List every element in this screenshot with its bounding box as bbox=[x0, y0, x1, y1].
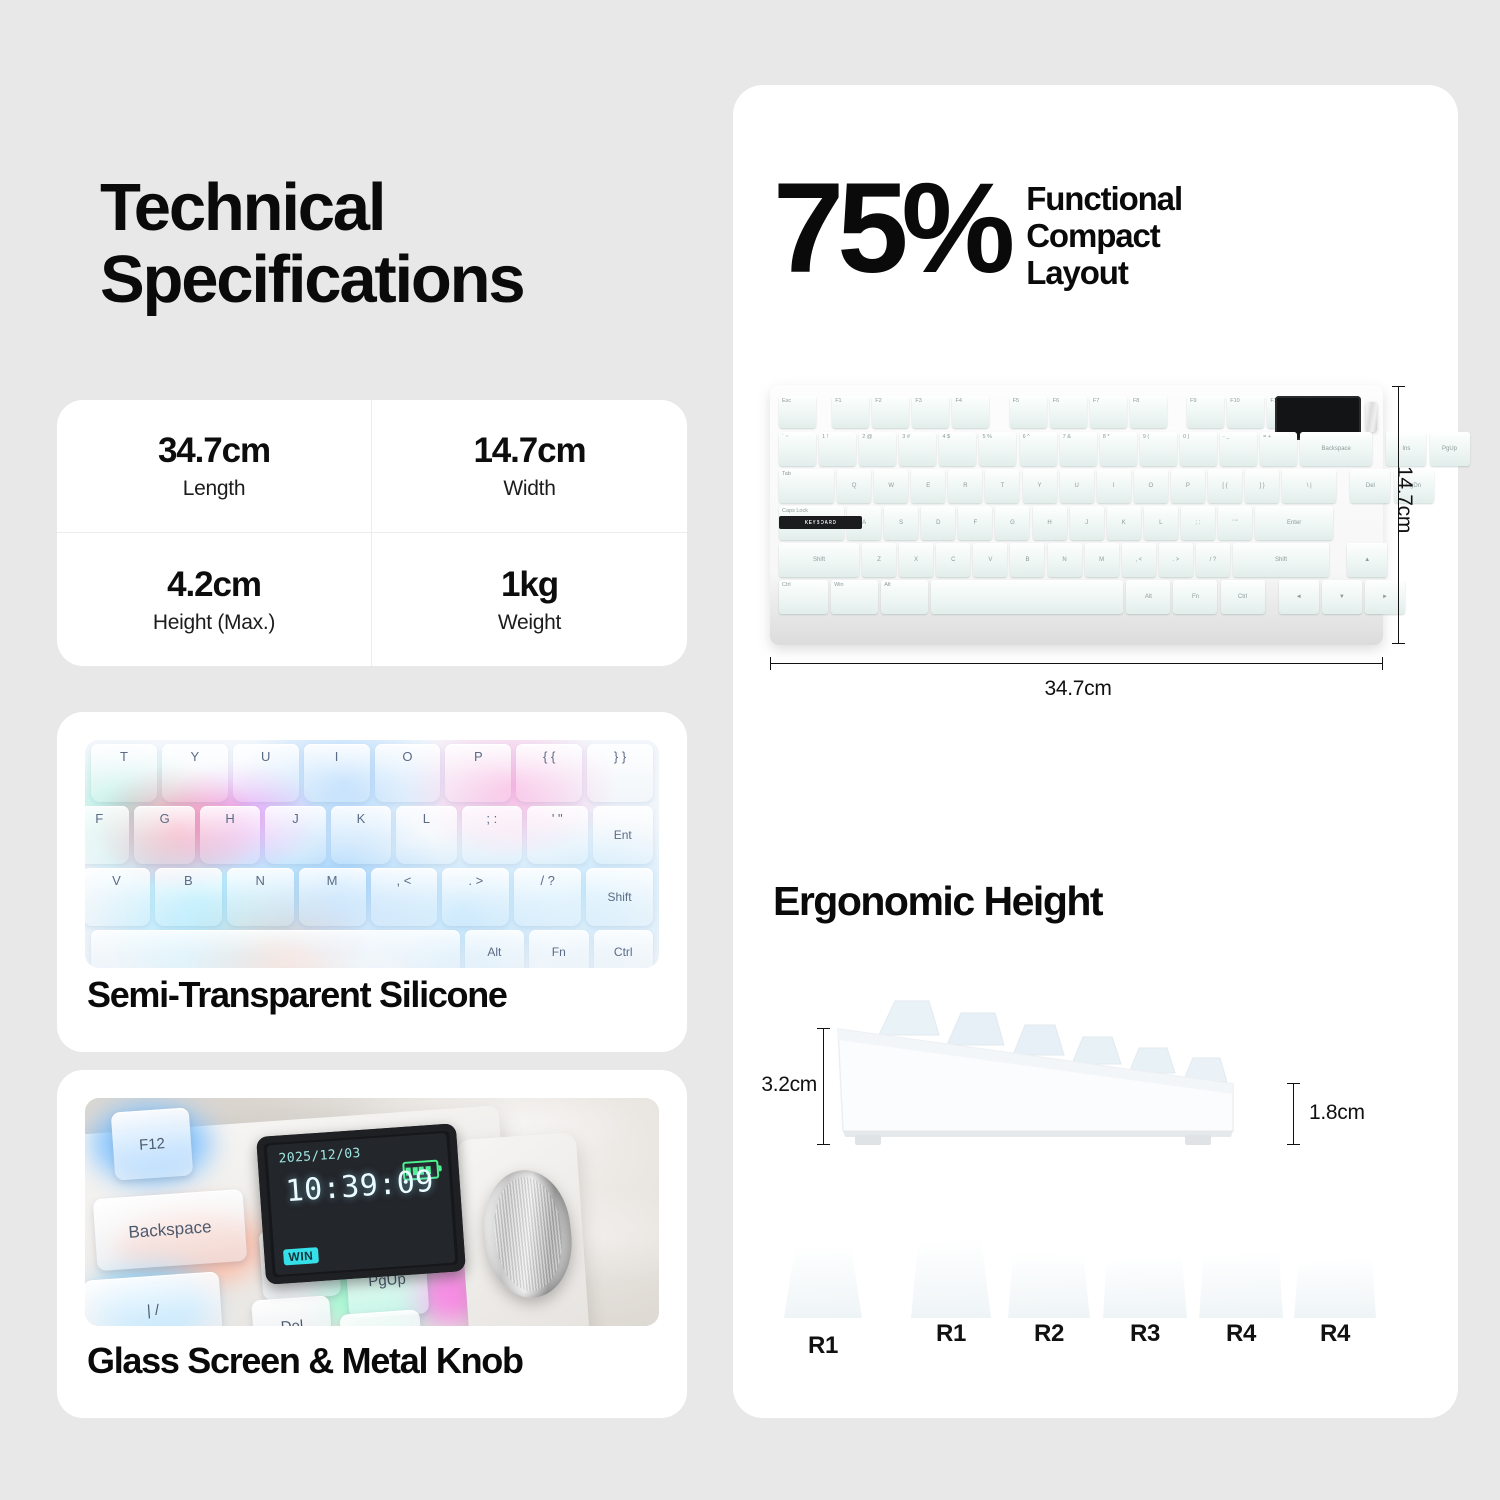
keycap-profile-label-5: R4 bbox=[1193, 1320, 1289, 1348]
keycap: K bbox=[331, 806, 391, 864]
spec-cell-weight: 1kg Weight bbox=[372, 533, 687, 666]
keyboard-row-function: Esc F1 F2 F3 F4 F5 F6 F7 F8 F9 F10 F11 F… bbox=[779, 396, 1344, 426]
key-f4: F4 bbox=[952, 396, 989, 428]
key-8: 8 * bbox=[1100, 432, 1137, 466]
screen-display: 2025/12/03 10:39:09 WIN bbox=[267, 1133, 456, 1275]
key-c: C bbox=[936, 543, 970, 577]
key-fn: Fn bbox=[1173, 580, 1217, 614]
key-k: K bbox=[1107, 506, 1141, 540]
dimension-line-rear-height bbox=[1293, 1083, 1294, 1145]
side-profile-foot-right bbox=[1185, 1135, 1211, 1145]
key-d: D bbox=[921, 506, 955, 540]
key-5: 5 % bbox=[979, 432, 1016, 466]
spec-label-width: Width bbox=[503, 477, 555, 501]
key-bracket-right: ] } bbox=[1245, 469, 1279, 503]
key-backtick: ` ~ bbox=[779, 432, 816, 466]
ergonomic-height-title: Ergonomic Height bbox=[773, 878, 1102, 925]
key-tab: Tab bbox=[779, 469, 834, 503]
keycap-enter: Ent bbox=[593, 806, 653, 864]
keycap: J bbox=[265, 806, 325, 864]
feature-caption-screen-knob: Glass Screen & Metal Knob bbox=[87, 1340, 667, 1382]
key-2: 2 @ bbox=[859, 432, 896, 466]
key-u: U bbox=[1060, 469, 1094, 503]
keycap: O bbox=[375, 744, 441, 802]
key-g: G bbox=[995, 506, 1029, 540]
key-z: Z bbox=[862, 543, 896, 577]
keycap-ctrl: Ctrl bbox=[594, 930, 653, 968]
dimension-label-length: 34.7cm bbox=[733, 677, 1423, 701]
key-esc: Esc bbox=[779, 396, 816, 428]
key-backslash: | / bbox=[85, 1271, 223, 1326]
hero-percentage: 75% bbox=[773, 175, 1008, 283]
key-minus: - _ bbox=[1220, 432, 1257, 466]
key-q: Q bbox=[837, 469, 871, 503]
spec-cell-width: 14.7cm Width bbox=[372, 400, 687, 533]
keycap-row-4: Alt Fn Ctrl bbox=[85, 930, 659, 968]
key-comma: , < bbox=[1122, 543, 1156, 577]
keycap: V bbox=[85, 868, 150, 926]
glass-screen-metal-knob-photo: F12 Backspace | / Ins Del PgUp PgDn 2025… bbox=[85, 1098, 659, 1326]
keycap: T bbox=[91, 744, 157, 802]
keycap: . > bbox=[442, 868, 509, 926]
dimension-line-length bbox=[770, 663, 1383, 664]
key-f8: F8 bbox=[1130, 396, 1167, 428]
key-period: . > bbox=[1159, 543, 1193, 577]
keycap: Y bbox=[162, 744, 228, 802]
key-f7: F7 bbox=[1090, 396, 1127, 428]
spec-cell-length: 34.7cm Length bbox=[57, 400, 372, 533]
key-l: L bbox=[1144, 506, 1178, 540]
key-ctrl-left: Ctrl bbox=[779, 580, 828, 614]
key-ins: Ins bbox=[1386, 432, 1426, 466]
specifications-grid: 34.7cm Length 14.7cm Width 4.2cm Height … bbox=[57, 400, 687, 666]
keycap-profile-1: R1 bbox=[775, 1246, 871, 1318]
page-title-line1: Technical bbox=[100, 170, 384, 245]
keycap: N bbox=[227, 868, 294, 926]
keyboard-knob bbox=[1366, 402, 1377, 432]
key-f12: F12 bbox=[111, 1107, 194, 1180]
spec-value-weight: 1kg bbox=[501, 565, 558, 605]
key-shift-right: Shift bbox=[1233, 543, 1329, 577]
side-profile-foot-left bbox=[855, 1135, 881, 1145]
spec-value-height: 4.2cm bbox=[167, 565, 261, 605]
keycap-profile-label-3: R2 bbox=[1001, 1320, 1097, 1348]
hero-subtitle: Functional Compact Layout bbox=[1026, 181, 1182, 292]
key-f6: F6 bbox=[1050, 396, 1087, 428]
key-r: R bbox=[948, 469, 982, 503]
spec-label-height: Height (Max.) bbox=[153, 611, 275, 635]
key-f3: F3 bbox=[912, 396, 949, 428]
key-7: 7 & bbox=[1060, 432, 1097, 466]
dimension-line-front-height bbox=[823, 1028, 824, 1145]
key-alt-left: Alt bbox=[881, 580, 928, 614]
hero-heading: 75% Functional Compact Layout bbox=[773, 175, 1182, 292]
key-backspace: Backspace bbox=[1300, 432, 1372, 466]
keycap-shift: Shift bbox=[586, 868, 653, 926]
dimension-label-width: 14.7cm bbox=[1392, 466, 1416, 528]
keycap: L bbox=[396, 806, 456, 864]
key-enter: Enter bbox=[1255, 506, 1333, 540]
key-i: I bbox=[1097, 469, 1131, 503]
keycap: ' " bbox=[527, 806, 587, 864]
keycap: H bbox=[200, 806, 260, 864]
key-shift-left: Shift bbox=[779, 543, 859, 577]
key-f10: F10 bbox=[1227, 396, 1264, 428]
feature-caption-silicone: Semi-Transparent Silicone bbox=[87, 974, 667, 1016]
key-f: F bbox=[958, 506, 992, 540]
keycap-profile-2: R1 bbox=[903, 1240, 999, 1318]
keycap: / ? bbox=[514, 868, 581, 926]
keycap-alt: Alt bbox=[465, 930, 524, 968]
keycap-profile-3: R2 bbox=[1001, 1252, 1097, 1318]
screen-time: 10:39:09 bbox=[269, 1163, 451, 1210]
page-title: Technical Specifications bbox=[100, 172, 720, 317]
key-bracket-left: [ { bbox=[1208, 469, 1242, 503]
key-alt-right: Alt bbox=[1126, 580, 1170, 614]
key-0: 0 ) bbox=[1180, 432, 1217, 466]
spec-value-length: 34.7cm bbox=[158, 431, 270, 471]
feature-card-screen-knob: F12 Backspace | / Ins Del PgUp PgDn 2025… bbox=[57, 1070, 687, 1418]
keycap-shape-r2 bbox=[1008, 1252, 1090, 1318]
keycap-shape-r1b bbox=[911, 1240, 991, 1318]
keycap-profile-label-6: R4 bbox=[1287, 1320, 1383, 1348]
key-del: Del bbox=[251, 1295, 333, 1326]
keycap-shape-r1a bbox=[784, 1246, 862, 1318]
key-j: J bbox=[1070, 506, 1104, 540]
keycap: { { bbox=[516, 744, 582, 802]
keycap-rows-overlay: T Y U I O P { { } } F G H J K L ; : bbox=[85, 740, 659, 968]
key-equals: = + bbox=[1260, 432, 1297, 466]
keyboard-row-home: Caps Lock A S D F G H J K L ; : ' " Ente… bbox=[779, 506, 1344, 540]
keycap: B bbox=[155, 868, 222, 926]
key-1: 1 ! bbox=[819, 432, 856, 466]
keycap: } } bbox=[587, 744, 653, 802]
keycap-profile-label-1: R1 bbox=[775, 1332, 871, 1360]
keycap-profile-5: R4 bbox=[1193, 1252, 1289, 1318]
keycap-profile-label-4: R3 bbox=[1097, 1320, 1193, 1348]
key-t: T bbox=[985, 469, 1019, 503]
infographic-page: Technical Specifications 34.7cm Length 1… bbox=[0, 0, 1500, 1500]
spec-label-length: Length bbox=[183, 477, 245, 501]
side-profile-base bbox=[843, 1131, 1233, 1137]
screen-mode-badge: WIN bbox=[283, 1247, 319, 1265]
keycap-profile-row: R1 R1 R2 R3 R4 R4 bbox=[775, 1188, 1415, 1318]
key-w: W bbox=[874, 469, 908, 503]
keycap: P bbox=[445, 744, 511, 802]
keyboard-row-qwerty: Tab Q W E R T Y U I O P [ { ] } \ | Del bbox=[779, 469, 1434, 503]
key-m: M bbox=[1085, 543, 1119, 577]
key-pgup: PgUp bbox=[1430, 432, 1470, 466]
keycap: I bbox=[304, 744, 370, 802]
hero-subtitle-line1: Functional bbox=[1026, 181, 1182, 218]
keycap-shape-r4b bbox=[1294, 1258, 1376, 1318]
key-quote: ' " bbox=[1218, 506, 1252, 540]
keycap: U bbox=[233, 744, 299, 802]
key-v: V bbox=[973, 543, 1007, 577]
right-panel-card: 75% Functional Compact Layout Esc F1 F2 … bbox=[733, 85, 1458, 1418]
key-3: 3 # bbox=[899, 432, 936, 466]
key-ctrl-right: Ctrl bbox=[1221, 580, 1265, 614]
key-arrow-left: ◄ bbox=[1279, 580, 1319, 614]
75-percent-layout-keyboard-top-view: Esc F1 F2 F3 F4 F5 F6 F7 F8 F9 F10 F11 F… bbox=[770, 385, 1383, 645]
keycap-profile-label-2: R1 bbox=[903, 1320, 999, 1348]
spec-cell-height: 4.2cm Height (Max.) bbox=[57, 533, 372, 666]
key-y: Y bbox=[1023, 469, 1057, 503]
keycap: G bbox=[134, 806, 194, 864]
key-e: E bbox=[911, 469, 945, 503]
keyboard-row-bottom: Ctrl Win Alt Alt Fn Ctrl ◄ ▼ ► bbox=[779, 580, 1405, 614]
keycap-profile-6: R4 bbox=[1287, 1258, 1383, 1318]
keycap-row-1: T Y U I O P { { } } bbox=[85, 744, 659, 802]
key-f1: F1 bbox=[832, 396, 869, 428]
page-title-line2: Specifications bbox=[100, 244, 720, 316]
keycap-row-2: F G H J K L ; : ' " Ent bbox=[85, 806, 659, 864]
keyboard-plate: Esc F1 F2 F3 F4 F5 F6 F7 F8 F9 F10 F11 F… bbox=[779, 392, 1374, 623]
key-f9: F9 bbox=[1187, 396, 1224, 428]
keycap: F bbox=[85, 806, 129, 864]
keycap-row-3: V B N M , < . > / ? Shift bbox=[85, 868, 659, 926]
key-f2: F2 bbox=[872, 396, 909, 428]
keycap: , < bbox=[371, 868, 438, 926]
glass-screen-module[interactable]: 2025/12/03 10:39:09 WIN bbox=[256, 1123, 466, 1285]
hero-subtitle-line2: Compact bbox=[1026, 218, 1182, 255]
keyboard-brand-badge-label: KEYBOARD bbox=[805, 520, 837, 526]
dimension-label-front-height: 3.2cm bbox=[733, 1073, 817, 1097]
key-semicolon: ; : bbox=[1181, 506, 1215, 540]
key-s: S bbox=[884, 506, 918, 540]
key-arrow-up: ▲ bbox=[1347, 543, 1387, 577]
key-9: 9 ( bbox=[1140, 432, 1177, 466]
key-f5: F5 bbox=[1010, 396, 1047, 428]
key-win: Win bbox=[831, 580, 878, 614]
feature-card-silicone: T Y U I O P { { } } F G H J K L ; : bbox=[57, 712, 687, 1052]
keycap-shape-r4a bbox=[1199, 1252, 1283, 1318]
key-4: 4 $ bbox=[939, 432, 976, 466]
key-h: H bbox=[1033, 506, 1067, 540]
keycap: M bbox=[299, 868, 366, 926]
key-spacebar bbox=[931, 580, 1123, 614]
keycap-fn: Fn bbox=[529, 930, 588, 968]
keycap-shape-r3 bbox=[1103, 1256, 1187, 1318]
spec-value-width: 14.7cm bbox=[473, 431, 585, 471]
keycap-spacebar bbox=[91, 930, 460, 968]
key-b: B bbox=[1010, 543, 1044, 577]
key-o: O bbox=[1134, 469, 1168, 503]
key-backslash: \ | bbox=[1282, 469, 1336, 503]
key-arrow-down: ▼ bbox=[1322, 580, 1362, 614]
keycap-profile-4: R3 bbox=[1097, 1256, 1193, 1318]
key-n: N bbox=[1048, 543, 1082, 577]
key-x: X bbox=[899, 543, 933, 577]
key-backspace: Backspace bbox=[93, 1189, 248, 1271]
specifications-table-card: 34.7cm Length 14.7cm Width 4.2cm Height … bbox=[57, 400, 687, 666]
rgb-backlit-keycaps-photo: T Y U I O P { { } } F G H J K L ; : bbox=[85, 740, 659, 968]
key-p: P bbox=[1171, 469, 1205, 503]
keycap: ; : bbox=[462, 806, 522, 864]
spec-label-weight: Weight bbox=[498, 611, 561, 635]
hero-subtitle-line3: Layout bbox=[1026, 255, 1182, 292]
dimension-label-rear-height: 1.8cm bbox=[1309, 1101, 1365, 1125]
key-6: 6 ^ bbox=[1020, 432, 1057, 466]
keyboard-brand-badge: KEYBOARD bbox=[779, 516, 862, 529]
key-slash: / ? bbox=[1196, 543, 1230, 577]
keyboard-row-shift: Shift Z X C V B N M , < . > / ? Shift ▲ bbox=[779, 543, 1387, 577]
key-del: Del bbox=[1350, 469, 1390, 503]
keyboard-row-number: ` ~ 1 ! 2 @ 3 # 4 $ 5 % 6 ^ 7 & 8 * 9 ( … bbox=[779, 432, 1470, 466]
screen-date: 2025/12/03 bbox=[278, 1146, 361, 1167]
